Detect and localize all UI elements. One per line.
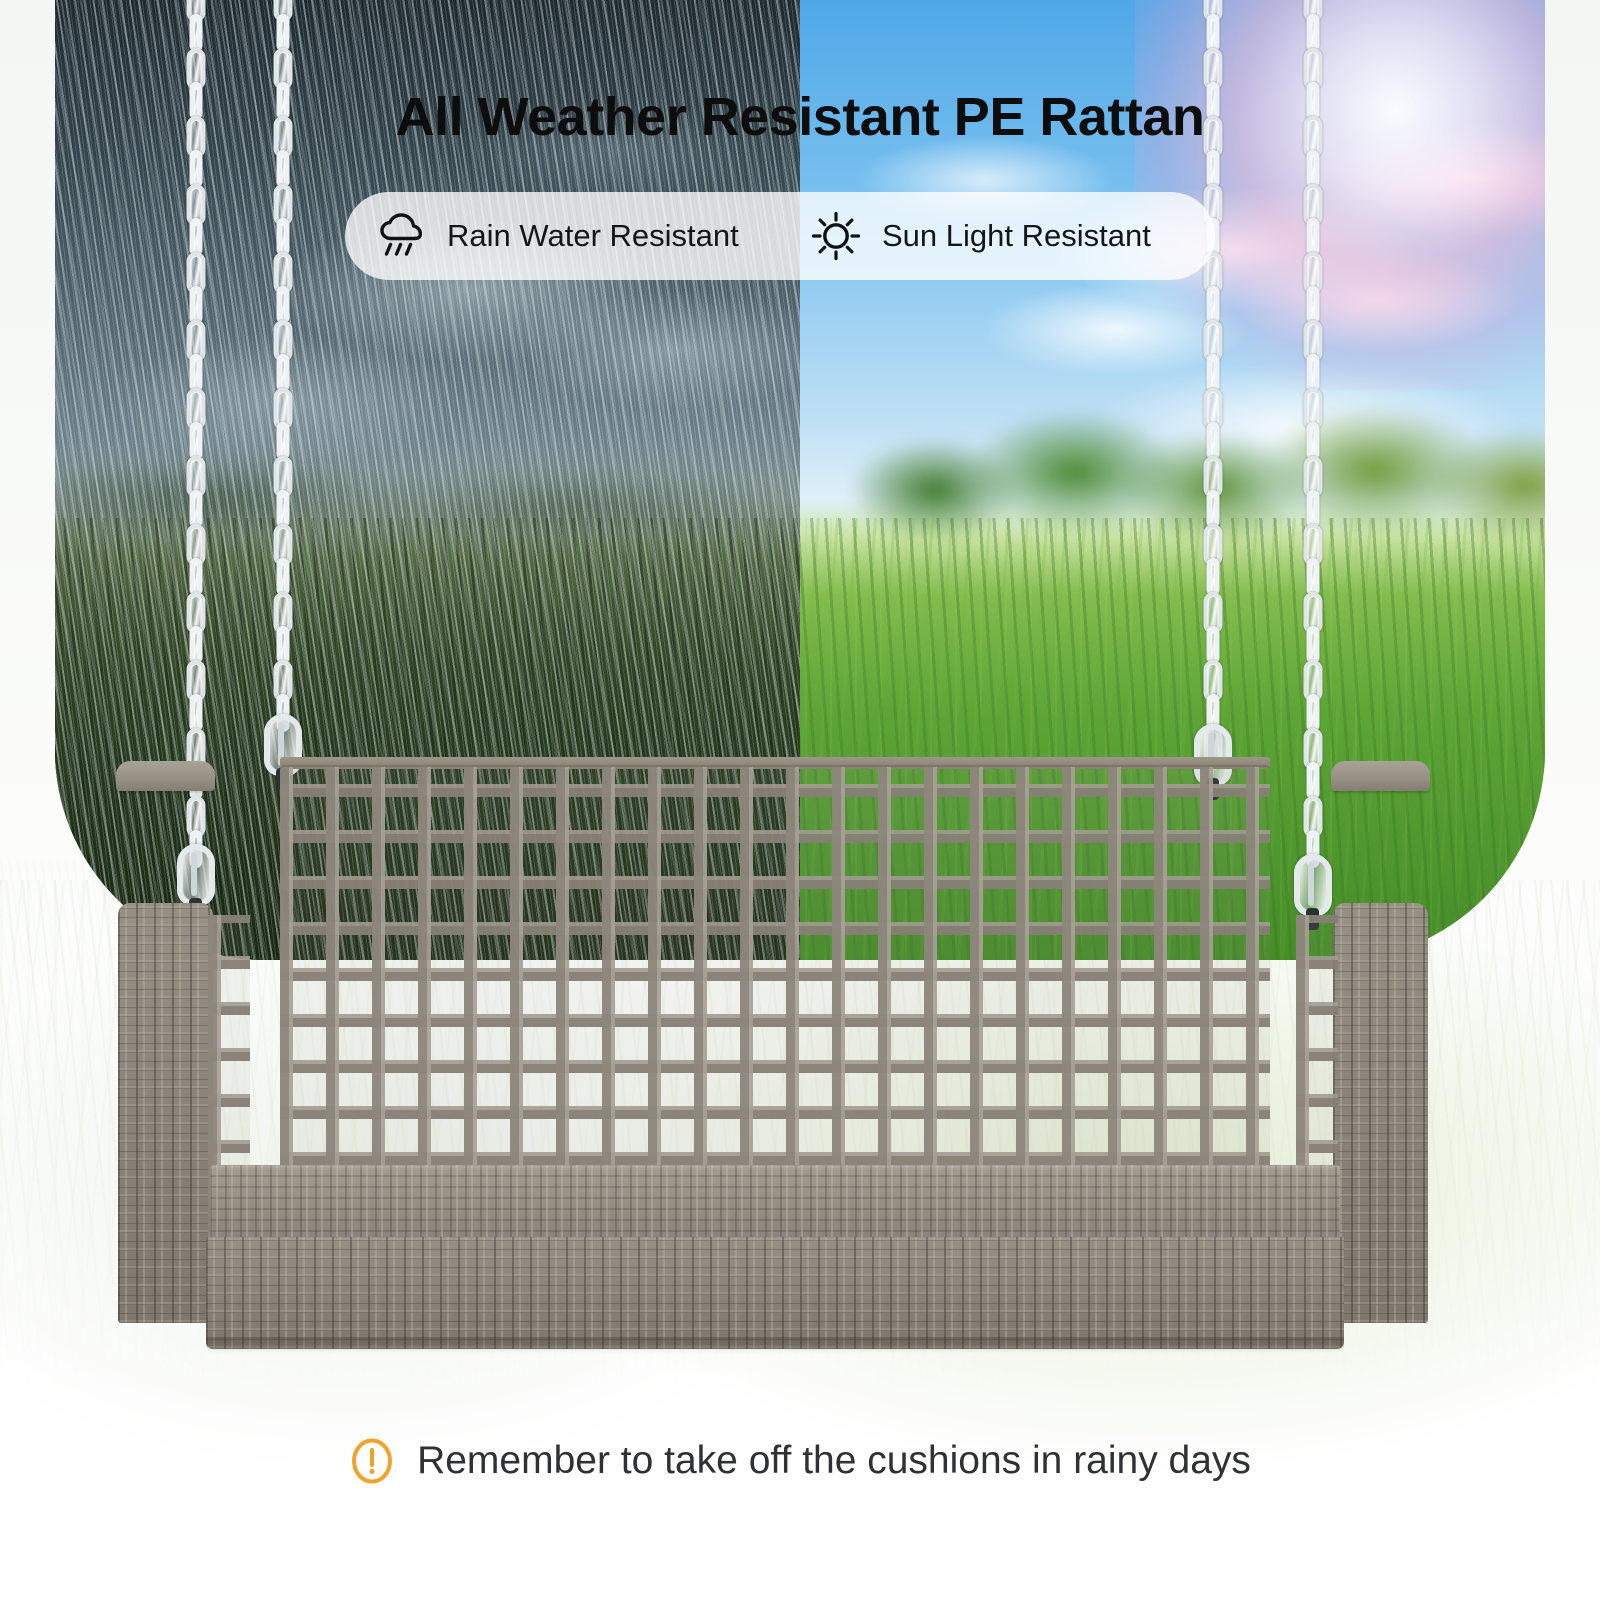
chain-link	[1207, 422, 1220, 460]
badge-rain-water-resistant: Rain Water Resistant	[345, 192, 800, 280]
sun-icon	[810, 210, 862, 262]
chain-link	[1307, 422, 1320, 460]
chain-link	[1207, 354, 1220, 392]
chain-link	[190, 354, 203, 392]
chain-link	[277, 150, 290, 188]
chain-link	[190, 694, 203, 732]
chain-link	[1307, 354, 1320, 392]
chain-link	[1307, 218, 1320, 256]
chain-link	[1207, 150, 1220, 188]
chain-link	[190, 218, 203, 256]
chain-link	[277, 490, 290, 528]
caption-text: Remember to take off the cushions in rai…	[417, 1439, 1251, 1483]
chain-link	[1207, 286, 1220, 324]
armrest-right	[1333, 903, 1428, 1323]
chain-link	[1307, 286, 1320, 324]
porch-swing-bench	[118, 765, 1428, 1325]
armrest-left	[118, 903, 213, 1323]
backrest-lattice	[280, 765, 1270, 1165]
chain-link	[277, 286, 290, 324]
bench-drop-shadow	[206, 1337, 1344, 1353]
chain-link	[1207, 490, 1220, 528]
armrest-right-top-cap	[1331, 761, 1430, 791]
chain-link	[190, 626, 203, 664]
chain-link	[1307, 490, 1320, 528]
chain-link	[1307, 626, 1320, 664]
chain-link	[190, 490, 203, 528]
chain-link	[1307, 150, 1320, 188]
armrest-left-top-cap	[116, 761, 215, 791]
chain-link	[190, 14, 203, 52]
resistance-badge-pill: Rain Water Resistant Sun Light Resistant	[345, 192, 1215, 280]
badge-label-sun: Sun Light Resistant	[882, 218, 1151, 254]
badge-sun-light-resistant: Sun Light Resistant	[800, 192, 1215, 280]
chain-link	[1207, 558, 1220, 596]
chain-link	[277, 218, 290, 256]
chain-link	[190, 422, 203, 460]
front-skirt-panel	[206, 1237, 1344, 1349]
chain-link	[1307, 14, 1320, 52]
chain-link	[277, 422, 290, 460]
rain-cloud-icon	[375, 210, 427, 262]
chain-link	[190, 558, 203, 596]
chain-link	[1207, 14, 1220, 52]
chain-link	[1207, 626, 1220, 664]
chain-link	[277, 626, 290, 664]
chain-link	[1307, 694, 1320, 732]
chain-link	[190, 150, 203, 188]
chain-link	[277, 354, 290, 392]
warning-exclamation-icon	[349, 1438, 395, 1484]
seat-surface	[210, 1165, 1340, 1243]
chain-link	[1307, 558, 1320, 596]
page-title: All Weather Resistant PE Rattan	[0, 86, 1600, 148]
chain-link	[190, 286, 203, 324]
chain-link	[277, 14, 290, 52]
caption-row: Remember to take off the cushions in rai…	[0, 1438, 1600, 1484]
badge-label-rain: Rain Water Resistant	[447, 218, 739, 254]
chain-link	[277, 558, 290, 596]
